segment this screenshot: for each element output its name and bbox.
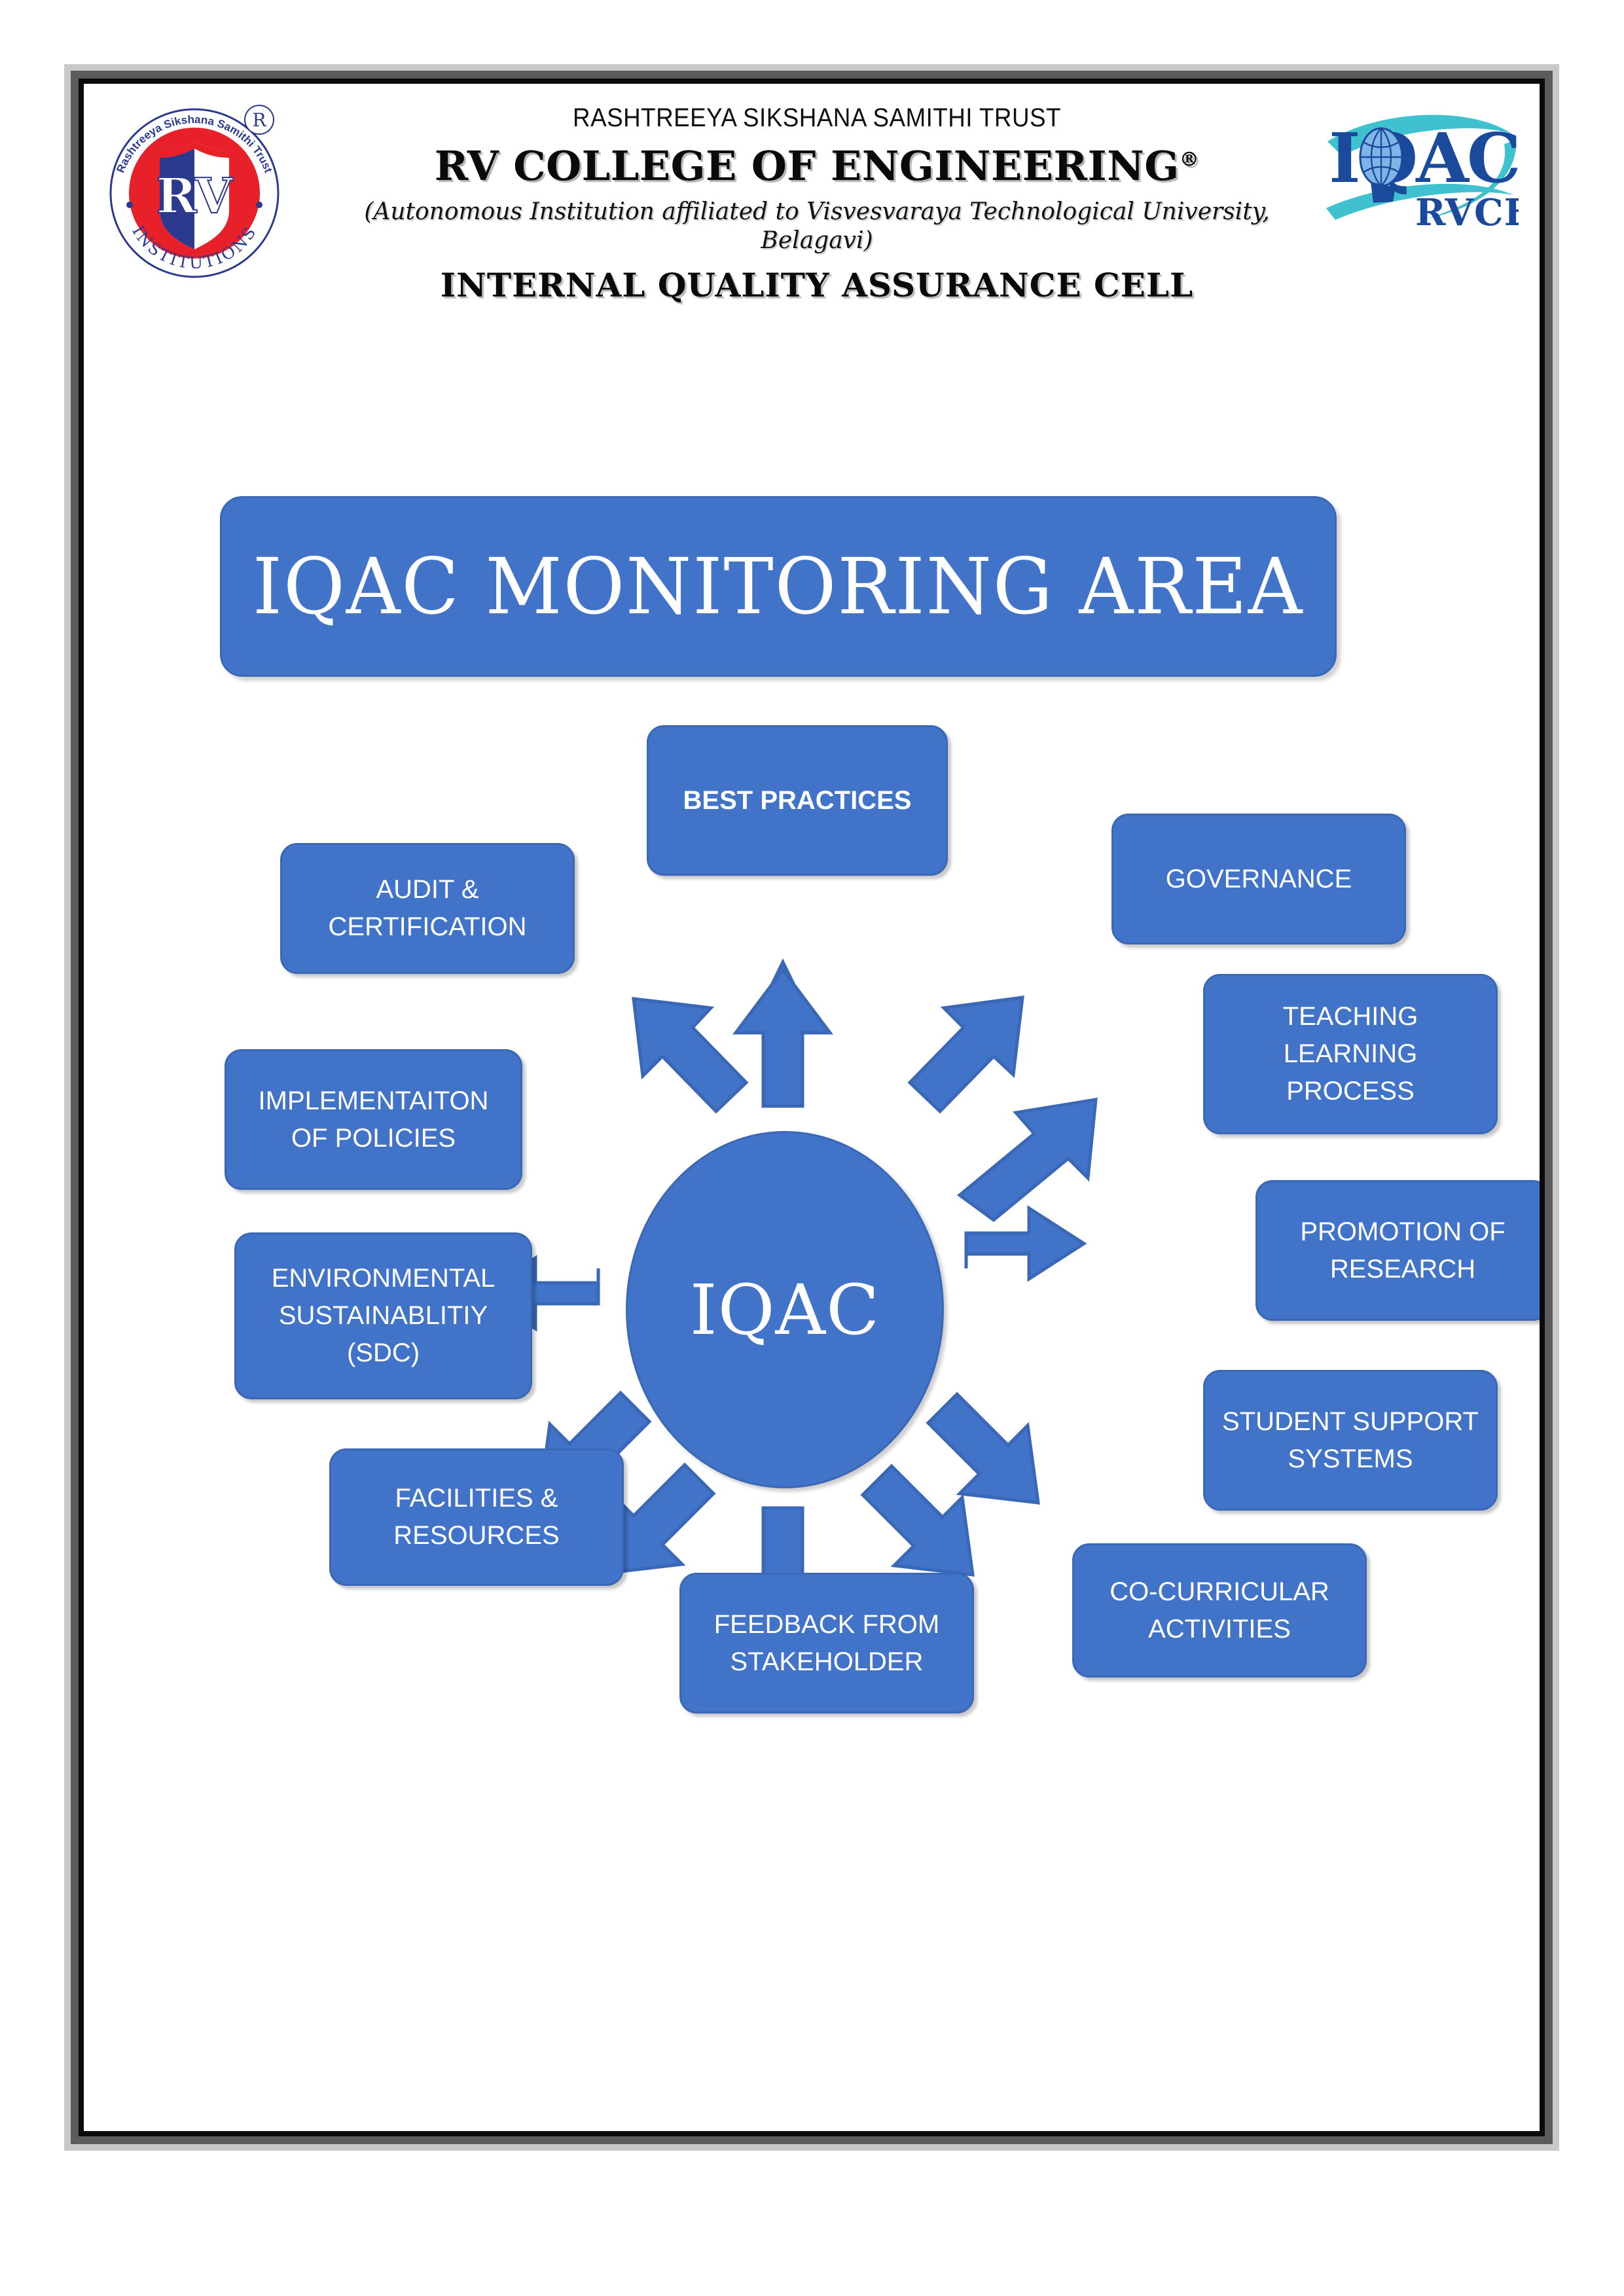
node-co-curricular-activities[interactable]: CO-CURRICULARACTIVITIES	[1072, 1543, 1367, 1677]
iqac-rvce-logo: IQAC RVCE	[1322, 103, 1519, 234]
iqac-monitoring-area-diagram: IQAC BEST PRACTICES GOVERNANCE AUDIT &CE…	[84, 725, 1540, 1969]
node-promotion-of-research[interactable]: PROMOTION OFRESEARCH	[1255, 1180, 1540, 1321]
letterhead-text-block: RASHTREEYA SIKSHANA SAMITHI TRUST RV COL…	[300, 84, 1334, 304]
arrow-right-down-student-support	[928, 1394, 1038, 1503]
college-name: RV COLLEGE OF ENGINEERING®	[300, 142, 1334, 190]
rv-institutions-seal-logo: RV Rashtreeya Sikshana Samithi Trust INS…	[103, 100, 285, 282]
trust-name: RASHTREEYA SIKSHANA SAMITHI TRUST	[341, 103, 1293, 133]
page-border-inner: RV Rashtreeya Sikshana Samithi Trust INS…	[79, 79, 1545, 2136]
arrow-up-left-audit	[634, 999, 746, 1111]
node-best-practices[interactable]: BEST PRACTICES	[647, 725, 948, 876]
node-facilities-resources[interactable]: FACILITIES &RESOURCES	[329, 1448, 624, 1586]
node-implementation-of-policies[interactable]: IMPLEMENTAITONOF POLICIES	[225, 1049, 522, 1190]
node-student-support-systems[interactable]: STUDENT SUPPORTSYSTEMS	[1203, 1370, 1498, 1511]
iqac-subtext: RVCE	[1415, 191, 1519, 234]
node-feedback-from-stakeholder[interactable]: FEEDBACK FROMSTAKEHOLDER	[679, 1573, 974, 1713]
node-environmental-sustainability[interactable]: ENVIRONMENTALSUSTAINABLITIY(SDC)	[234, 1232, 532, 1399]
affiliation-note: (Autonomous Institution affiliated to Vi…	[300, 198, 1334, 255]
college-name-text: RV COLLEGE OF ENGINEERING	[435, 142, 1180, 190]
arrow-up-best-practices	[736, 962, 830, 1106]
seal-registered-mark: R	[252, 109, 266, 131]
letterhead: RV Rashtreeya Sikshana Samithi Trust INS…	[84, 84, 1540, 365]
hub-iqac: IQAC	[626, 1131, 944, 1488]
svg-text:RV: RV	[156, 168, 234, 224]
node-governance[interactable]: GOVERNANCE	[1111, 814, 1406, 944]
registered-trademark-icon: ®	[1180, 148, 1200, 171]
affiliation-line-2: Belagavi)	[300, 226, 1334, 255]
page-title: IQAC MONITORING AREA	[253, 541, 1303, 632]
page-border-outer: RV Rashtreeya Sikshana Samithi Trust INS…	[64, 64, 1559, 2151]
iqac-wordmark: IQAC	[1329, 118, 1519, 198]
arrow-up-right-governance	[910, 997, 1022, 1111]
page-title-banner: IQAC MONITORING AREA	[220, 496, 1337, 677]
cell-name: INTERNAL QUALITY ASSURANCE CELL	[300, 266, 1334, 304]
document-sheet: RV Rashtreeya Sikshana Samithi Trust INS…	[84, 84, 1540, 2131]
arrow-right-promotion	[966, 1208, 1084, 1279]
affiliation-line-1: (Autonomous Institution affiliated to Vi…	[300, 198, 1334, 226]
node-teaching-learning-process[interactable]: TEACHINGLEARNINGPROCESS	[1203, 974, 1498, 1134]
arrow-right-up-teaching	[960, 1100, 1096, 1220]
hub-label: IQAC	[690, 1270, 880, 1350]
node-audit-certification[interactable]: AUDIT &CERTIFICATION	[280, 843, 575, 974]
page-border-mid: RV Rashtreeya Sikshana Samithi Trust INS…	[71, 71, 1553, 2144]
arrow-down-right-cocurricular	[863, 1466, 973, 1575]
